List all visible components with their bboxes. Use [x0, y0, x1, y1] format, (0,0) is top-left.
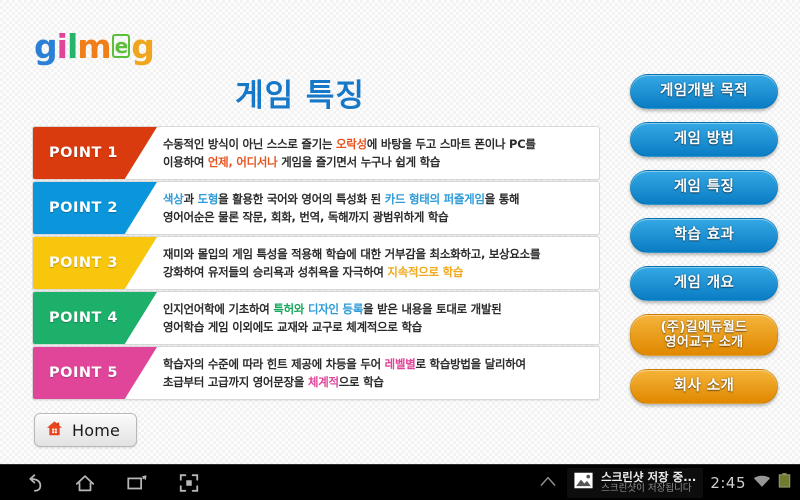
system-nav-icons [0, 472, 200, 494]
nav-button-label: 게임 개요 [674, 275, 734, 292]
point-text: 영어어순은 물론 작문, 회화, 번역, 독해까지 광범위하게 학습 [163, 210, 448, 224]
point-description-line: 인지언어학에 기초하여 특허와 디자인 등록을 받은 내용을 토대로 개발된 [163, 300, 589, 318]
point-description-line: 재미와 몰입의 게임 특성을 적용해 학습에 대한 거부감을 최소화하고, 보상… [163, 245, 589, 263]
point-description-line: 영어어순은 물론 작문, 회화, 번역, 독해까지 광범위하게 학습 [163, 208, 589, 226]
point-text: 을 활용한 국어와 영어의 특성화 된 [218, 192, 385, 206]
recents-icon[interactable] [126, 472, 148, 494]
point-badge-label: POINT 3 [49, 255, 118, 271]
logo-letter-g2: g [131, 30, 154, 63]
point-description: 학습자의 수준에 따라 힌트 제공에 차등을 두어 레벨별로 학습방법을 달리하… [157, 355, 599, 392]
point-badge: POINT 1 [33, 127, 157, 179]
nav-button-label: (주)길에듀월드 영어교구 소개 [661, 320, 748, 351]
point-badge-label: POINT 2 [49, 200, 118, 216]
point-badge: POINT 5 [33, 347, 157, 399]
expand-chevron-icon[interactable] [538, 473, 558, 493]
nav-button[interactable]: 게임 방법 [630, 122, 778, 157]
page-title: 게임 특징 [0, 70, 600, 115]
nav-button[interactable]: 학습 효과 [630, 218, 778, 253]
point-text: 강화하여 유저들의 승리욕과 성취욕을 자극하여 [163, 265, 387, 279]
image-icon [574, 472, 593, 493]
nav-button[interactable]: 게임 개요 [630, 266, 778, 301]
point-highlight: 카드 형태의 퍼즐게임 [385, 192, 485, 206]
nav-button-label: 회사 소개 [674, 378, 734, 395]
point-description: 인지언어학에 기초하여 특허와 디자인 등록을 받은 내용을 토대로 개발된영어… [157, 300, 599, 337]
android-system-bar: 스크린샷 저장 중... 스크린샷이 저장됩니다 2:45 [0, 464, 800, 500]
point-description: 수동적인 방식이 아닌 스스로 즐기는 오락성에 바탕을 두고 스마트 폰이나 … [157, 135, 599, 172]
point-row: POINT 4인지언어학에 기초하여 특허와 디자인 등록을 받은 내용을 토대… [32, 291, 600, 345]
notification[interactable]: 스크린샷 저장 중... 스크린샷이 저장됩니다 [567, 468, 703, 498]
point-text: 과 [184, 192, 198, 206]
point-text: 초급부터 고급까지 영어문장을 [163, 375, 308, 389]
wifi-icon [753, 473, 771, 492]
logo-letter-m: m [77, 30, 110, 63]
point-description-line: 색상과 도형을 활용한 국어와 영어의 특성화 된 카드 형태의 퍼즐게임을 통… [163, 190, 589, 208]
point-highlight: 언제, 어디서나 [208, 155, 278, 169]
logo-letter-i: i [57, 30, 67, 63]
logo-letter-l: l [67, 30, 77, 63]
point-highlight: 지속적으로 학습 [387, 265, 463, 279]
point-text: 재미와 몰입의 게임 특성을 적용해 학습에 대한 거부감을 최소화하고, 보상… [163, 247, 540, 261]
point-highlight: 체계적 [308, 375, 339, 389]
point-row: POINT 1수동적인 방식이 아닌 스스로 즐기는 오락성에 바탕을 두고 스… [32, 126, 600, 180]
back-icon[interactable] [22, 472, 44, 494]
point-description-line: 수동적인 방식이 아닌 스스로 즐기는 오락성에 바탕을 두고 스마트 폰이나 … [163, 135, 589, 153]
point-badge: POINT 2 [33, 182, 157, 234]
point-description-line: 영어학습 게임 이외에도 교재와 교구로 체계적으로 학습 [163, 318, 589, 336]
notification-subtitle: 스크린샷이 저장됩니다 [601, 484, 696, 494]
point-text: 로 학습방법을 달리하여 [416, 357, 526, 371]
side-navigation: 게임개발 목적게임 방법게임 특징학습 효과게임 개요(주)길에듀월드 영어교구… [630, 74, 778, 404]
app-screen: gilmeg 게임 특징 POINT 1수동적인 방식이 아닌 스스로 즐기는 … [0, 0, 800, 500]
nav-button-label: 학습 효과 [674, 227, 734, 244]
point-text: 에 바탕을 두고 스마트 폰이나 PC를 [367, 137, 536, 151]
point-text: 수동적인 방식이 아닌 스스로 즐기는 [163, 137, 336, 151]
home-button[interactable]: Home [34, 413, 137, 447]
home-button-label: Home [72, 421, 120, 440]
point-highlight: 오락성 [336, 137, 367, 151]
point-text: 을 통해 [485, 192, 520, 206]
nav-button-label: 게임 방법 [674, 131, 734, 148]
notification-title: 스크린샷 저장 중... [601, 471, 696, 483]
point-row: POINT 5학습자의 수준에 따라 힌트 제공에 차등을 두어 레벨별로 학습… [32, 346, 600, 400]
points-list: POINT 1수동적인 방식이 아닌 스스로 즐기는 오락성에 바탕을 두고 스… [32, 126, 600, 401]
point-row: POINT 3재미와 몰입의 게임 특성을 적용해 학습에 대한 거부감을 최소… [32, 236, 600, 290]
point-text: 학습자의 수준에 따라 힌트 제공에 차등을 두어 [163, 357, 385, 371]
point-description-line: 학습자의 수준에 따라 힌트 제공에 차등을 두어 레벨별로 학습방법을 달리하… [163, 355, 589, 373]
nav-button[interactable]: 게임 특징 [630, 170, 778, 205]
point-description-line: 이용하여 언제, 어디서나 게임을 즐기면서 누구나 쉽게 학습 [163, 153, 589, 171]
nav-button-label: 게임 특징 [674, 179, 734, 196]
point-highlight: 디자인 등록 [308, 302, 363, 316]
point-highlight: 레벨별 [385, 357, 416, 371]
point-text: 을 받은 내용을 토대로 개발된 [363, 302, 501, 316]
point-badge-label: POINT 1 [49, 145, 118, 161]
nav-button[interactable]: (주)길에듀월드 영어교구 소개 [630, 314, 778, 356]
point-description-line: 강화하여 유저들의 승리욕과 성취욕을 자극하여 지속적으로 학습 [163, 263, 589, 281]
point-badge: POINT 3 [33, 237, 157, 289]
point-highlight: 특허와 [273, 302, 304, 316]
house-icon [45, 419, 64, 442]
point-highlight: 색상 [163, 192, 184, 206]
battery-icon [778, 473, 791, 492]
screenshot-icon[interactable] [178, 472, 200, 494]
point-row: POINT 2색상과 도형을 활용한 국어와 영어의 특성화 된 카드 형태의 … [32, 181, 600, 235]
point-text: 게임을 즐기면서 누구나 쉽게 학습 [277, 155, 440, 169]
notification-text: 스크린샷 저장 중... 스크린샷이 저장됩니다 [601, 471, 696, 494]
point-badge-label: POINT 5 [49, 365, 118, 381]
home-icon[interactable] [74, 472, 96, 494]
status-clock: 2:45 [710, 474, 746, 492]
point-highlight: 도형 [198, 192, 219, 206]
point-badge-label: POINT 4 [49, 310, 118, 326]
status-area: 스크린샷 저장 중... 스크린샷이 저장됩니다 2:45 [538, 465, 800, 500]
brand-logo: gilmeg [34, 30, 154, 63]
point-description: 색상과 도형을 활용한 국어와 영어의 특성화 된 카드 형태의 퍼즐게임을 통… [157, 190, 599, 227]
nav-button[interactable]: 게임개발 목적 [630, 74, 778, 109]
point-text: 이용하여 [163, 155, 208, 169]
point-badge: POINT 4 [33, 292, 157, 344]
point-description-line: 초급부터 고급까지 영어문장을 체계적으로 학습 [163, 373, 589, 391]
nav-button-label: 게임개발 목적 [660, 83, 748, 100]
point-description: 재미와 몰입의 게임 특성을 적용해 학습에 대한 거부감을 최소화하고, 보상… [157, 245, 599, 282]
point-text: 인지언어학에 기초하여 [163, 302, 273, 316]
nav-button[interactable]: 회사 소개 [630, 369, 778, 404]
logo-letter-g1: g [34, 30, 57, 63]
point-text: 으로 학습 [339, 375, 384, 389]
point-text: 영어학습 게임 이외에도 교재와 교구로 체계적으로 학습 [163, 320, 422, 334]
logo-letter-e: e [112, 34, 131, 58]
